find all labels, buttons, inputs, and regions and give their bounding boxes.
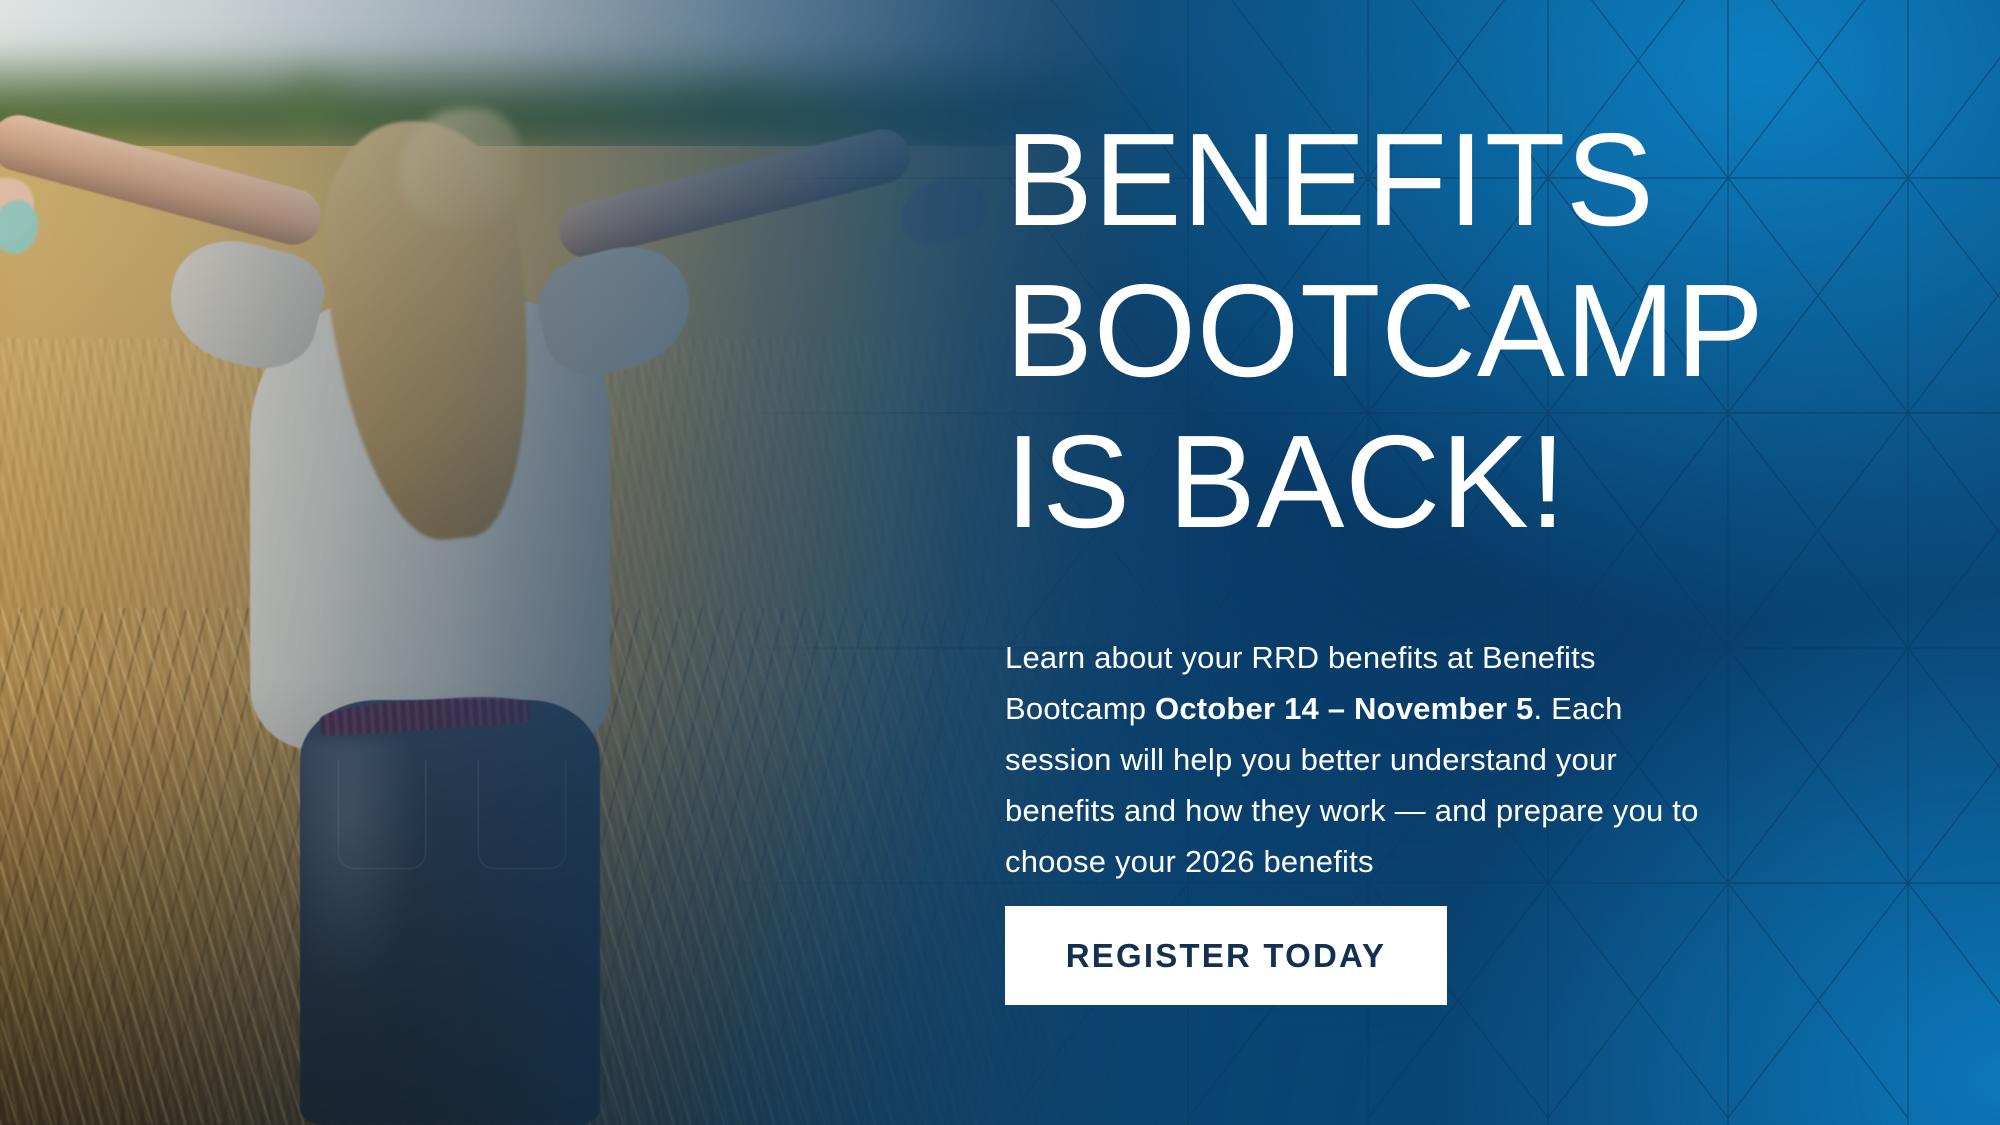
session-date-range: October 14 – November 5 [1155, 691, 1533, 726]
page-title: Benefits Bootcamp is back! [1005, 104, 1764, 557]
benefits-bootcamp-hero-banner: Benefits Bootcamp is back! Learn about y… [0, 0, 2000, 1125]
hero-content: Benefits Bootcamp is back! Learn about y… [1005, 0, 1945, 1125]
register-today-button[interactable]: Register Today [1005, 906, 1447, 1005]
hero-description: Learn about your RRD benefits at Benefit… [1005, 632, 1725, 887]
